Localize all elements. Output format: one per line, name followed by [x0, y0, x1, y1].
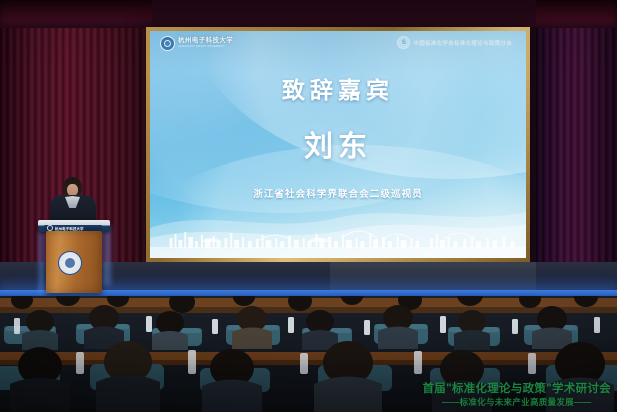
stage-valance: [152, 0, 536, 26]
podium-plate-text: 杭州电子科技大学: [55, 226, 84, 231]
university-seal-icon: [160, 36, 175, 51]
podium-and-speaker: 杭州电子科技大学: [36, 175, 112, 303]
slide-header: 杭州电子科技大学 HANGZHOU DIANZI UNIVERSITY S 中国…: [150, 31, 526, 57]
watermark-line-2: ——标准化与未来产业高质量发展——: [422, 397, 611, 408]
university-crest-icon: [58, 251, 82, 275]
university-logo-text: 杭州电子科技大学 HANGZHOU DIANZI UNIVERSITY: [178, 38, 233, 49]
city-skyline-silhouette: [150, 194, 526, 258]
university-logo: 杭州电子科技大学 HANGZHOU DIANZI UNIVERSITY: [160, 36, 233, 51]
projection-screen: 杭州电子科技大学 HANGZHOU DIANZI UNIVERSITY S 中国…: [150, 31, 526, 258]
conference-seal-icon: S: [397, 36, 410, 49]
conference-photo-scene: 杭州电子科技大学 HANGZHOU DIANZI UNIVERSITY S 中国…: [0, 0, 617, 412]
watermark-line-1: 首届"标准化理论与政策"学术研讨会: [422, 382, 611, 396]
conference-badge: S 中国标准化学会标准化理论与政策分会: [397, 36, 512, 49]
university-name-en: HANGZHOU DIANZI UNIVERSITY: [178, 46, 233, 49]
projection-screen-frame: 杭州电子科技大学 HANGZHOU DIANZI UNIVERSITY S 中国…: [146, 27, 530, 262]
slide-kicker: 致辞嘉宾: [282, 71, 394, 105]
conference-seal-mark: S: [402, 40, 406, 46]
event-watermark: 首届"标准化理论与政策"学术研讨会 ——标准化与未来产业高质量发展——: [422, 382, 611, 408]
university-name-cn: 杭州电子科技大学: [178, 38, 233, 45]
conference-badge-title: 中国标准化学会标准化理论与政策分会: [413, 39, 512, 47]
slide-speaker-name: 刘东: [304, 123, 372, 165]
